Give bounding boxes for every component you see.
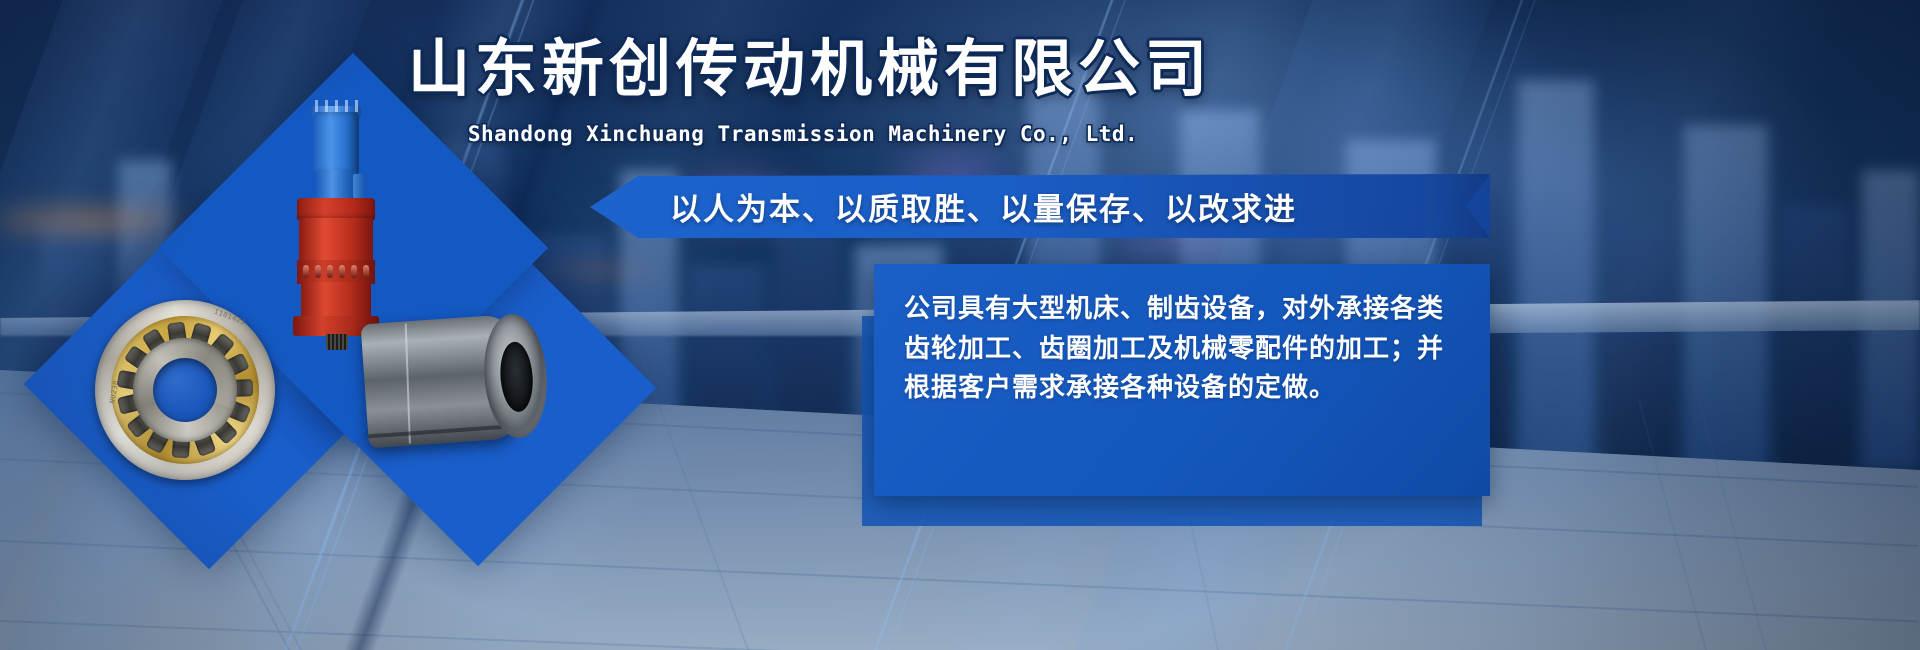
description-box: 公司具有大型机床、制齿设备，对外承接各类齿轮加工、齿圈加工及机械零配件的加工；并…: [874, 264, 1490, 496]
reducer-side-tab: [353, 174, 365, 198]
company-hero-banner: NU230 1101423: [0, 0, 1920, 650]
reducer-lower-housing: [301, 282, 371, 320]
slogan-text: 以人为本、以质取胜、以量保存、以改求进: [670, 174, 1470, 238]
reducer-bolt-ring: [297, 260, 375, 284]
company-name-english: Shandong Xinchuang Transmission Machiner…: [408, 122, 1198, 146]
reducer-motor-neck: [316, 170, 356, 200]
reducer-top-flange: [297, 198, 375, 220]
description-text: 公司具有大型机床、制齿设备，对外承接各类齿轮加工、齿圈加工及机械零配件的加工；并…: [904, 290, 1460, 409]
steel-roller-sleeve-image: [360, 304, 555, 467]
reducer-blue-motor: [313, 112, 359, 174]
cylindrical-roller-bearing-image: NU230 1101423: [83, 288, 286, 491]
reducer-housing: [299, 218, 373, 264]
slogan-ribbon: 以人为本、以质取胜、以量保存、以改求进: [590, 174, 1490, 242]
company-name-chinese: 山东新创传动机械有限公司: [408, 36, 1198, 101]
reducer-output-spline-shaft: [326, 334, 348, 350]
planetary-gear-reducer-image: [275, 112, 395, 342]
